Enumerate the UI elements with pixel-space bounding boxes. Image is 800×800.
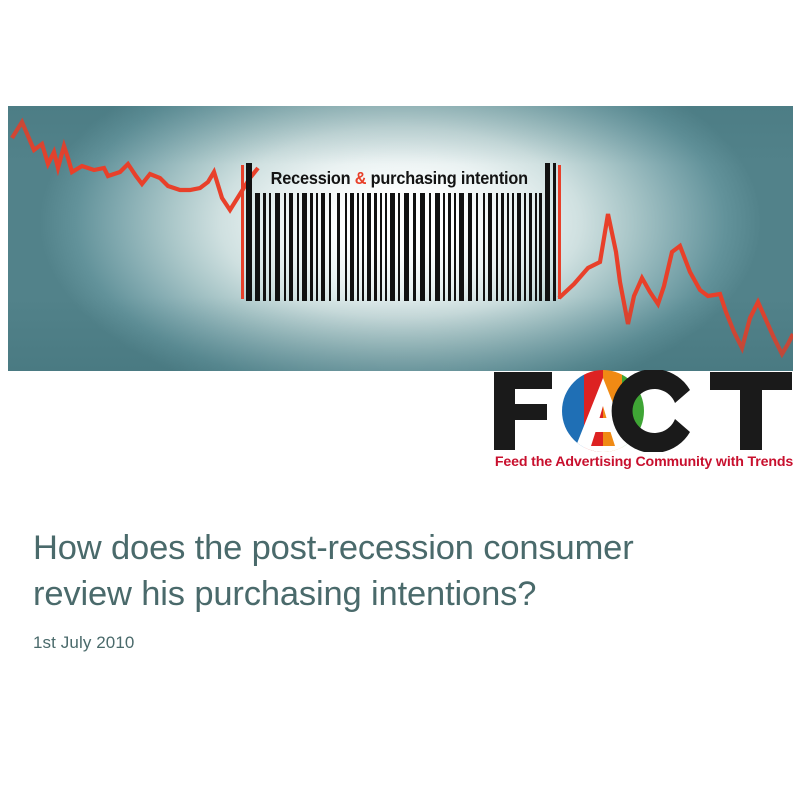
page-title: How does the post-recession consumer rev… xyxy=(33,525,763,617)
barcode-caption-pre: Recession xyxy=(270,168,354,188)
fact-wordmark xyxy=(489,370,795,452)
barcode-guard-right xyxy=(558,165,561,299)
fact-logo: Feed the Advertising Community with Tren… xyxy=(489,370,795,480)
barcode-caption-ampersand: & xyxy=(354,168,366,188)
logo-letter-f xyxy=(494,372,552,450)
fact-tagline: Feed the Advertising Community with Tren… xyxy=(494,454,794,470)
page-title-line-2: review his purchasing intentions? xyxy=(33,571,763,617)
barcode-bars xyxy=(255,193,542,301)
page-title-line-1: How does the post-recession consumer xyxy=(33,525,763,571)
barcode-caption: Recession & purchasing intention xyxy=(257,165,541,191)
barcode-graphic: Recession & purchasing intention xyxy=(241,163,561,301)
title-block: How does the post-recession consumer rev… xyxy=(33,525,763,653)
slide-date: 1st July 2010 xyxy=(33,633,763,653)
barcode-edge-bar-right-inner xyxy=(553,163,556,301)
logo-letter-t xyxy=(710,372,792,450)
barcode-edge-bar-left xyxy=(246,163,252,301)
barcode-edge-bar-right-outer xyxy=(545,163,550,301)
barcode-guard-left xyxy=(241,165,244,299)
barcode-caption-post: purchasing intention xyxy=(366,168,528,188)
